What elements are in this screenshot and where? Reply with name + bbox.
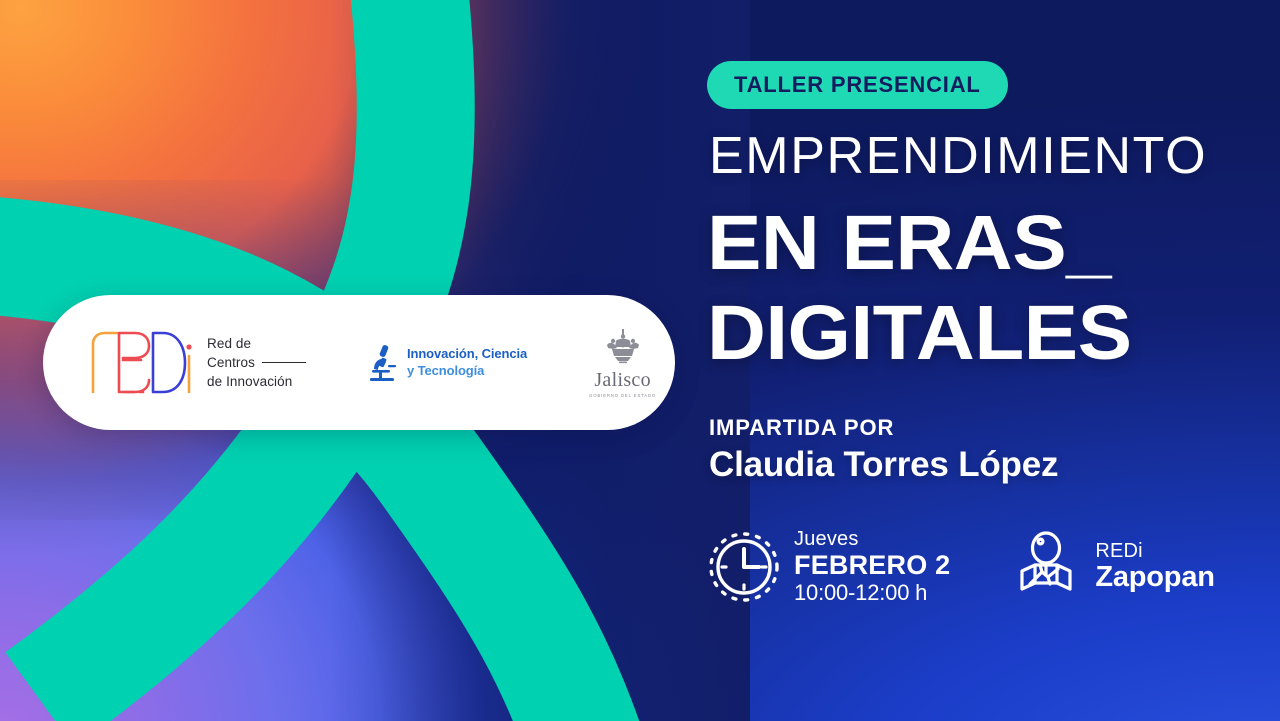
venue-block: REDi Zapopan <box>1010 527 1214 607</box>
redi-text-line1: Red de <box>207 334 306 353</box>
ict-logo-group: Innovación, Ciencia y Tecnología <box>368 343 527 383</box>
microscope-icon <box>368 343 398 383</box>
redi-text-line2: Centros <box>207 353 255 372</box>
clock-icon <box>707 527 781 607</box>
presenter-name: Claudia Torres López <box>709 445 1058 485</box>
redi-text-line3: de Innovación <box>207 372 306 391</box>
jalisco-subtitle: GOBIERNO DEL ESTADO <box>589 393 656 398</box>
headline-line-1: EMPRENDIMIENTO <box>709 126 1207 186</box>
headline-line-2: EN ERAS_ <box>707 206 1111 281</box>
redi-wordmark-text: Red de Centros de Innovación <box>207 334 306 391</box>
schedule-time: 10:00-12:00 h <box>794 580 950 606</box>
sponsor-logo-card: Red de Centros de Innovación <box>43 295 675 430</box>
venue-text: REDi Zapopan <box>1095 540 1214 594</box>
event-type-badge: TALLER PRESENCIAL <box>707 61 1008 109</box>
ict-wordmark-text: Innovación, Ciencia y Tecnología <box>407 346 527 379</box>
redi-logo-group: Red de Centros de Innovación <box>89 330 306 396</box>
schedule-weekday: Jueves <box>794 528 950 550</box>
ict-text-line2: y Tecnología <box>407 363 527 379</box>
schedule-block: Jueves FEBRERO 2 10:00-12:00 h <box>707 527 950 607</box>
venue-city: Zapopan <box>1095 562 1214 594</box>
schedule-date: FEBRERO 2 <box>794 550 950 580</box>
event-poster: Red de Centros de Innovación <box>0 0 1280 721</box>
jalisco-crest-icon <box>601 328 645 368</box>
headline-line-3: DIGITALES <box>707 296 1131 371</box>
poster-content-column: TALLER PRESENCIAL EMPRENDIMIENTO EN ERAS… <box>707 0 1267 721</box>
jalisco-logo-group: Jalisco GOBIERNO DEL ESTADO <box>589 328 656 398</box>
redi-divider-rule <box>262 362 306 363</box>
ict-text-line1: Innovación, Ciencia <box>407 346 527 362</box>
schedule-text: Jueves FEBRERO 2 10:00-12:00 h <box>794 528 950 607</box>
venue-org: REDi <box>1095 540 1214 562</box>
presenter-label: IMPARTIDA POR <box>709 415 894 441</box>
jalisco-name: Jalisco <box>594 369 651 392</box>
map-location-icon <box>1010 527 1082 607</box>
redi-logo-icon <box>89 330 193 396</box>
event-details-row: Jueves FEBRERO 2 10:00-12:00 h <box>707 527 1215 607</box>
